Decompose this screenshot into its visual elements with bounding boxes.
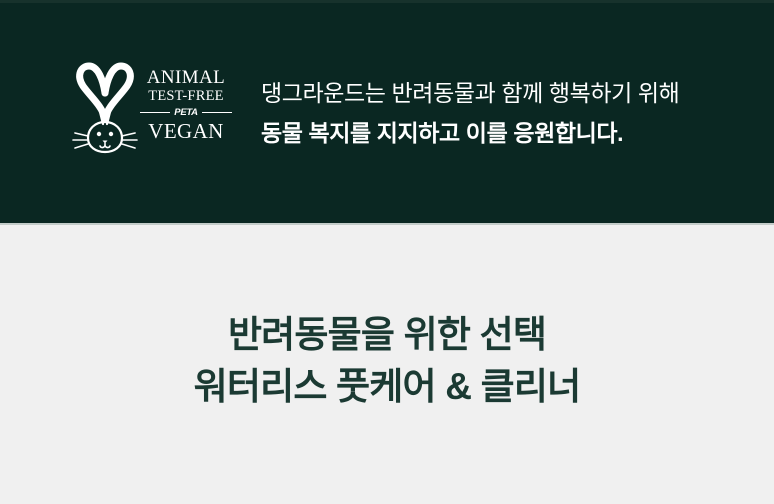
product-headline: 반려동물을 위한 선택 워터리스 풋케어 & 클리너 (0, 309, 774, 413)
peta-label-animal: ANIMAL (140, 68, 232, 88)
headline-section: 반려동물을 위한 선택 워터리스 풋케어 & 클리너 (0, 227, 774, 504)
peta-cruelty-free-logo: ANIMAL TEST-FREE PETA VEGAN (72, 62, 232, 154)
product-headline-line-2: 워터리스 풋케어 & 클리너 (0, 361, 774, 413)
peta-rule-left (140, 112, 170, 114)
hero-band-divider (0, 223, 774, 225)
hero-statement-line-2: 동물 복지를 지지하고 이를 응원합니다. (261, 116, 731, 150)
peta-label-vegan: VEGAN (140, 120, 232, 143)
product-headline-line-1: 반려동물을 위한 선택 (0, 309, 774, 361)
peta-brand-label: PETA (174, 108, 197, 118)
hero-band-top-strip (0, 0, 774, 3)
peta-brand-row: PETA (140, 106, 232, 119)
peta-wordmark: ANIMAL TEST-FREE PETA VEGAN (140, 68, 232, 150)
peta-rule-right (202, 112, 232, 114)
bunny-heart-icon (72, 62, 138, 154)
hero-statement: 댕그라운드는 반려동물과 함께 행복하기 위해 동물 복지를 지지하고 이를 응… (261, 76, 731, 150)
peta-label-test-free: TEST-FREE (140, 88, 232, 105)
hero-band: ANIMAL TEST-FREE PETA VEGAN 댕그라운드는 반려동물과… (0, 0, 774, 225)
hero-statement-line-1: 댕그라운드는 반려동물과 함께 행복하기 위해 (261, 76, 731, 110)
promo-banner-page: ANIMAL TEST-FREE PETA VEGAN 댕그라운드는 반려동물과… (0, 0, 774, 504)
